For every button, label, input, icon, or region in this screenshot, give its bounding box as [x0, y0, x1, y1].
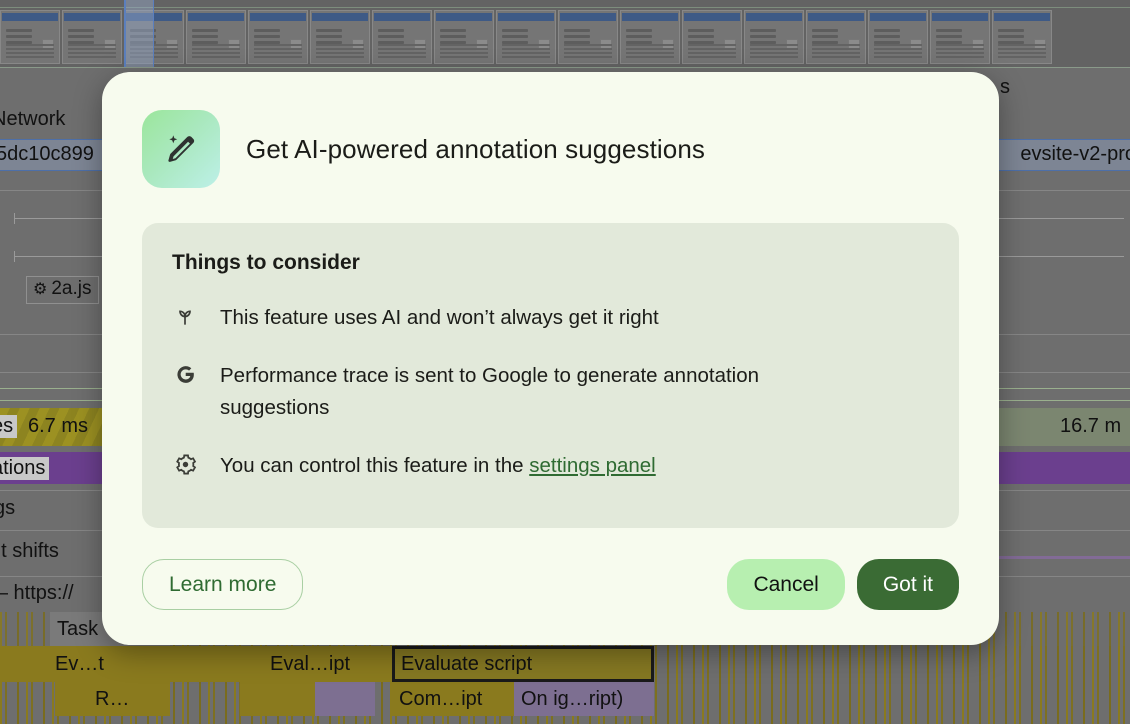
timings-right-duration: 16.7 m — [1060, 415, 1121, 438]
devtools-performance-panel: Network 5dc10c899 evsite-v2-pro s ⚙2a.js… — [0, 0, 1130, 724]
flame-row[interactable]: R… Com…ipt On ig…ript) — [0, 682, 1130, 716]
card-heading: Things to consider — [172, 251, 929, 275]
thumb-bottom-lines — [6, 44, 54, 60]
filmstrip-thumbnail[interactable] — [496, 10, 556, 64]
script-chip[interactable]: ⚙2a.js — [26, 276, 99, 304]
thumb-bottom-lines — [688, 44, 736, 60]
filmstrip-thumbnail[interactable] — [744, 10, 804, 64]
gear-icon — [172, 451, 198, 477]
magic-wand-sparkle-icon — [142, 110, 220, 188]
filmstrip-thumbnail[interactable] — [620, 10, 680, 64]
dialog-actions: Learn more Cancel Got it — [142, 559, 959, 610]
got-it-button[interactable]: Got it — [857, 559, 959, 610]
flame-bar[interactable]: Eval…ipt — [262, 646, 390, 682]
filmstrip-thumbnail[interactable] — [248, 10, 308, 64]
cancel-button[interactable]: Cancel — [727, 559, 844, 610]
filmstrip-thumbnail[interactable] — [186, 10, 246, 64]
thumb-bottom-lines — [750, 44, 798, 60]
filmstrip-thumbnail[interactable] — [372, 10, 432, 64]
filmstrip-thumbnail[interactable] — [0, 10, 60, 64]
filmstrip-thumbnail[interactable] — [868, 10, 928, 64]
network-request-name-left: 5dc10c899 — [0, 143, 94, 166]
dialog-header: Get AI-powered annotation suggestions — [142, 110, 959, 188]
filmstrip-thumbnail[interactable] — [682, 10, 742, 64]
filmstrip-thumbnail[interactable] — [558, 10, 618, 64]
timings-left-duration: 6.7 ms — [28, 415, 88, 438]
ai-annotation-consent-dialog: Get AI-powered annotation suggestions Th… — [102, 72, 999, 645]
flame-bar-filler[interactable] — [315, 682, 375, 716]
flame-bar-filler[interactable] — [240, 682, 315, 716]
layout-shifts-label: ut shifts — [0, 540, 59, 563]
network-section-label: Network — [0, 108, 65, 131]
gear-icon: ⚙ — [33, 281, 47, 298]
filmstrip-thumbnail[interactable] — [806, 10, 866, 64]
flame-bar[interactable]: R… — [55, 682, 170, 716]
thumb-bottom-lines — [68, 44, 116, 60]
consider-item-text-before: You can control this feature in the — [220, 454, 529, 477]
flame-bar[interactable]: Com…ipt — [392, 682, 514, 716]
filmstrip-thumbnails[interactable] — [0, 10, 1052, 64]
settings-panel-link[interactable]: settings panel — [529, 454, 656, 477]
thumb-bottom-lines — [254, 44, 302, 60]
learn-more-button[interactable]: Learn more — [142, 559, 303, 610]
filmstrip-thumbnail[interactable] — [62, 10, 122, 64]
main-thread-section-label: s — [1000, 76, 1010, 99]
thumb-bottom-lines — [936, 44, 984, 60]
flame-bar-selected[interactable]: Evaluate script — [392, 646, 654, 682]
thumb-bottom-lines — [316, 44, 364, 60]
consider-item-ai-accuracy: This feature uses AI and won’t always ge… — [172, 302, 929, 334]
flame-row[interactable]: Ev…t Eval…ipt Evaluate script — [0, 646, 1130, 682]
thumb-bottom-lines — [812, 44, 860, 60]
flame-bar[interactable]: On ig…ript) — [514, 682, 654, 716]
url-label: — https:// — [0, 582, 74, 605]
consider-item-data-sent: Performance trace is sent to Google to g… — [172, 360, 929, 424]
thumb-bottom-lines — [564, 44, 612, 60]
network-request-name-right: evsite-v2-pro — [1020, 143, 1130, 166]
filmstrip-thumbnail[interactable] — [310, 10, 370, 64]
thumb-bottom-lines — [874, 44, 922, 60]
animations-label: ations — [0, 457, 49, 480]
thumb-bottom-lines — [626, 44, 674, 60]
filmstrip-thumbnail[interactable] — [434, 10, 494, 64]
sprout-icon — [172, 303, 198, 329]
filmstrip-rule — [0, 7, 1130, 8]
script-chip-label: 2a.js — [51, 278, 91, 299]
consider-item-settings: You can control this feature in the sett… — [172, 450, 929, 482]
timings-left-tag: es — [0, 415, 17, 438]
flame-bar-filler[interactable] — [168, 646, 260, 682]
filmstrip-selection[interactable] — [124, 0, 154, 68]
filmstrip-thumbnail[interactable] — [930, 10, 990, 64]
flame-bar[interactable]: Ev…t — [0, 646, 168, 682]
thumb-bottom-lines — [502, 44, 550, 60]
consider-item-text: Performance trace is sent to Google to g… — [220, 360, 860, 424]
consider-item-text: This feature uses AI and won’t always ge… — [220, 302, 659, 334]
filmstrip-thumbnail[interactable] — [992, 10, 1052, 64]
thumb-bottom-lines — [192, 44, 240, 60]
flame-noise — [0, 716, 1130, 724]
thumb-bottom-lines — [998, 44, 1046, 60]
timings-label: gs — [0, 497, 15, 520]
google-g-icon — [172, 361, 198, 387]
things-to-consider-card: Things to consider This feature uses AI … — [142, 223, 959, 528]
consider-item-text: You can control this feature in the sett… — [220, 450, 656, 482]
thumb-bottom-lines — [378, 44, 426, 60]
filmstrip-track[interactable] — [0, 0, 1130, 68]
thumb-bottom-lines — [440, 44, 488, 60]
dialog-title: Get AI-powered annotation suggestions — [246, 134, 705, 165]
